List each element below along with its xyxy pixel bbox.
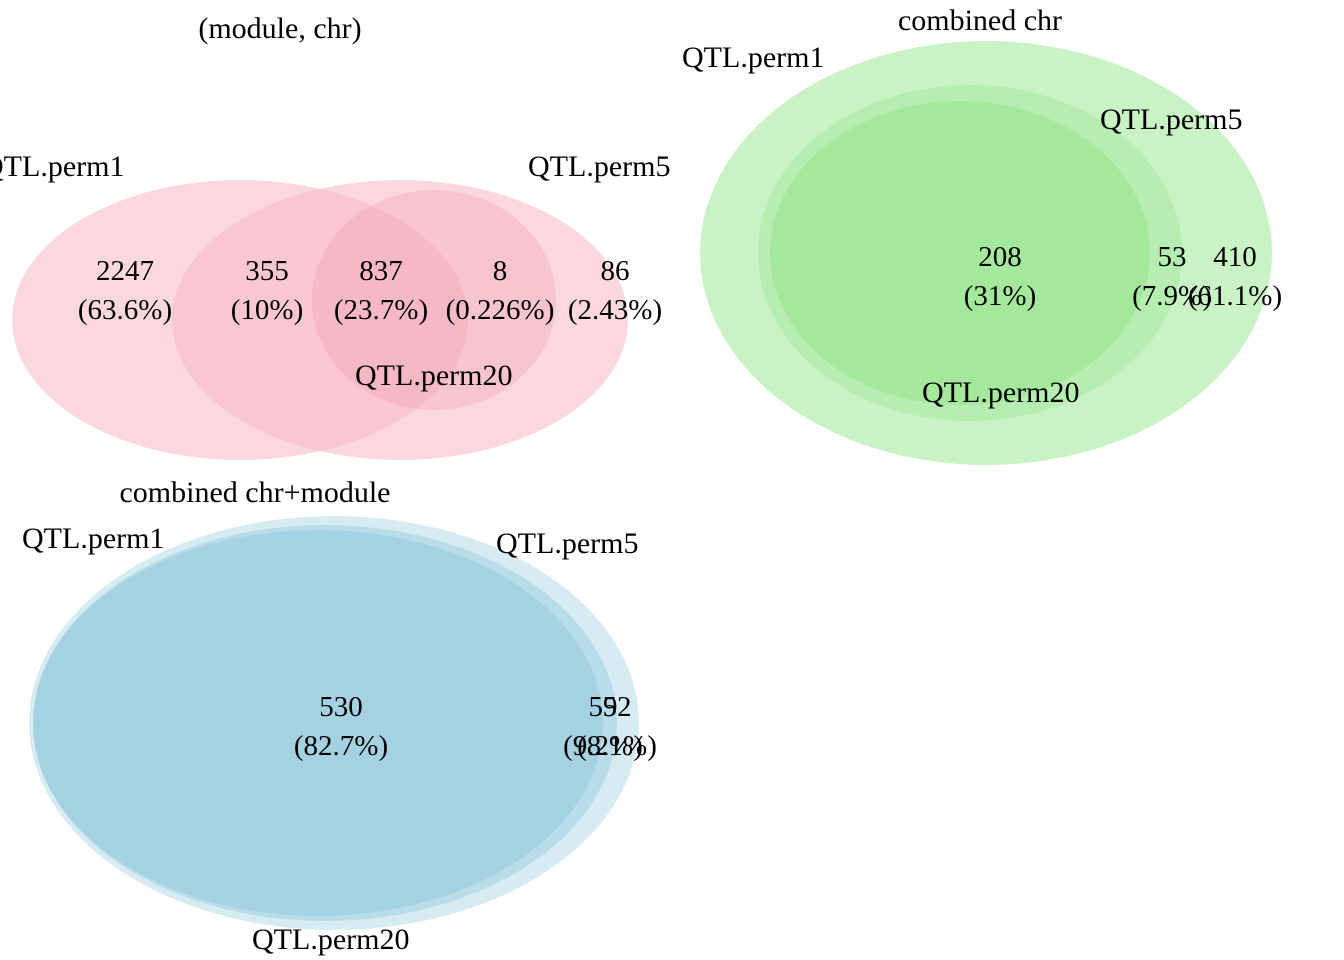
venn-panel-combined-chr: combined chr QTL.perm1 QTL.perm5 QTL.per… [660, 0, 1344, 470]
panel-title-combined-chr-module: combined chr+module [35, 478, 475, 508]
region-count: 530 [276, 688, 406, 727]
region-percent: (10%) [222, 291, 312, 330]
venn-panel-combined-chr-module: combined chr+module QTL.perm1 QTL.perm5 … [0, 470, 700, 960]
region-count: 2247 [40, 252, 210, 291]
set-label-perm20: QTL.perm20 [252, 925, 409, 955]
region-count: 86 [556, 252, 674, 291]
region-percent: (31%) [940, 277, 1060, 316]
venn-region-perm1-perm5: 355 (10%) [222, 252, 312, 330]
venn-region-perm1-only: 2247 (63.6%) [40, 252, 210, 330]
set-label-perm5: QTL.perm5 [1100, 105, 1242, 135]
venn-figure-canvas: (module, chr) QTL.perm1 QTL.perm5 QTL.pe… [0, 0, 1344, 960]
set-label-perm5: QTL.perm5 [496, 529, 638, 559]
venn-panel-module-chr: (module, chr) QTL.perm1 QTL.perm5 QTL.pe… [0, 0, 700, 470]
region-percent: (8.1%) [570, 727, 664, 766]
region-count: 8 [436, 252, 564, 291]
set-label-perm1: QTL.perm1 [0, 152, 124, 182]
venn-shapes-module-chr [0, 0, 700, 470]
region-count: 355 [222, 252, 312, 291]
region-count: 52 [570, 688, 664, 727]
panel-title-module-chr: (module, chr) [120, 14, 440, 44]
region-percent: (61.1%) [1170, 277, 1300, 316]
venn-region-perm1-perm5-perm20: 837 (23.7%) [325, 252, 437, 330]
venn-region-perm1-perm5-perm20: 208 (31%) [940, 238, 1060, 316]
region-count: 410 [1170, 238, 1300, 277]
region-count: 208 [940, 238, 1060, 277]
venn-region-perm1-only: 52 (8.1%) [570, 688, 664, 766]
panel-title-combined-chr: combined chr [820, 6, 1140, 36]
set-label-perm20: QTL.perm20 [922, 378, 1079, 408]
venn-region-perm1-perm5-perm20: 530 (82.7%) [276, 688, 406, 766]
venn-region-perm1-only: 410 (61.1%) [1170, 238, 1300, 316]
region-percent: (23.7%) [325, 291, 437, 330]
set-label-perm1: QTL.perm1 [22, 524, 164, 554]
venn-region-perm5-perm20: 8 (0.226%) [436, 252, 564, 330]
region-percent: (2.43%) [556, 291, 674, 330]
venn-region-perm5-only: 86 (2.43%) [556, 252, 674, 330]
region-percent: (0.226%) [436, 291, 564, 330]
region-count: 837 [325, 252, 437, 291]
region-percent: (63.6%) [40, 291, 210, 330]
set-label-perm1: QTL.perm1 [682, 43, 824, 73]
set-label-perm20: QTL.perm20 [355, 361, 512, 391]
set-label-perm5: QTL.perm5 [528, 152, 670, 182]
region-percent: (82.7%) [276, 727, 406, 766]
